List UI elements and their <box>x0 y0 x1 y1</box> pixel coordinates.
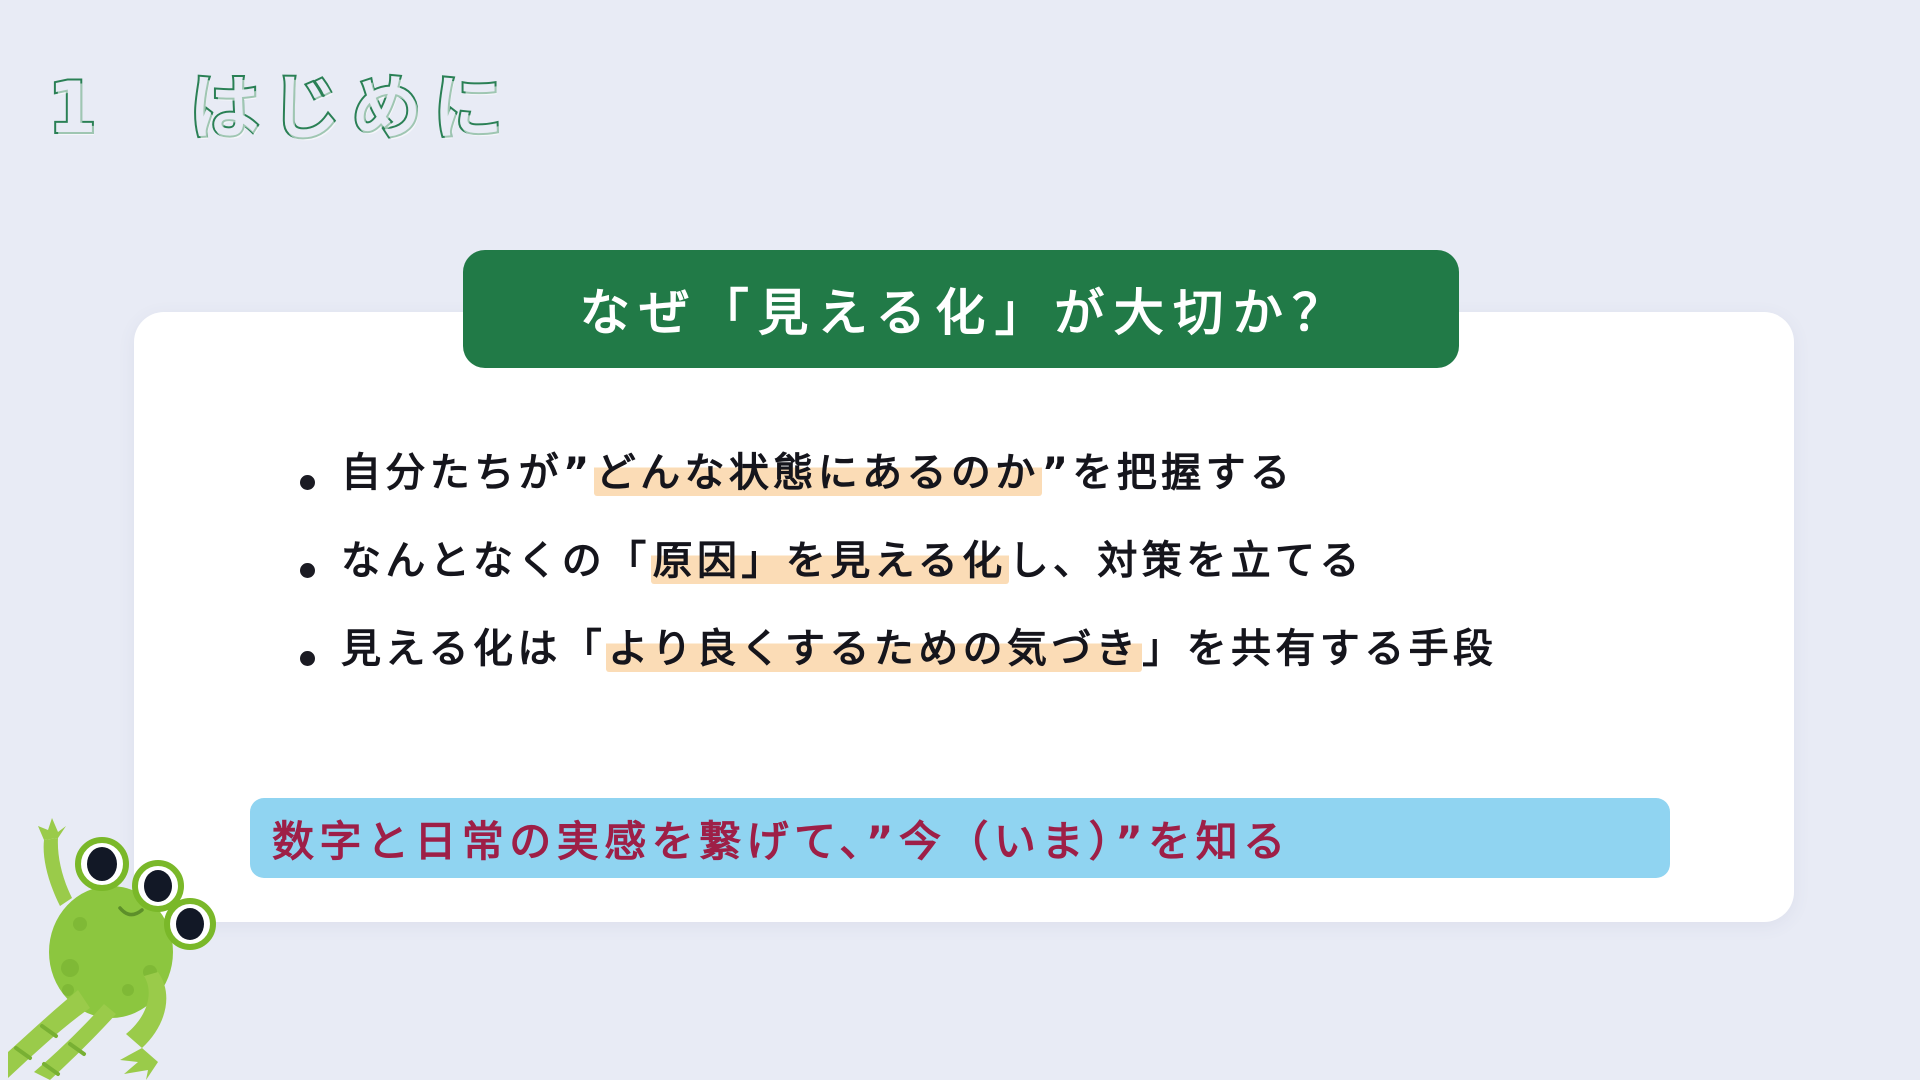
bullet-segment: 自分たちが” <box>341 450 594 496</box>
bullet-dot-icon <box>300 563 315 578</box>
frog-stripe <box>70 1044 84 1054</box>
frog-foot <box>120 1048 158 1080</box>
bullet-segment: なんとなくの「 <box>341 538 651 584</box>
frog-spot <box>61 959 79 977</box>
bullet-text: なんとなくの「原因」を見える化し、対策を立てる <box>341 538 1364 584</box>
bullet-text: 自分たちが”どんな状態にあるのか”を把握する <box>341 450 1294 496</box>
frog-spot <box>62 984 74 996</box>
frog-stripe <box>16 1048 30 1058</box>
frog-leg <box>34 1004 116 1080</box>
bullet-segment: 見える化は「 <box>341 626 606 672</box>
frog-stripe <box>44 1064 58 1074</box>
list-item: 自分たちが”どんな状態にあるのか”を把握する <box>300 450 1820 496</box>
frog-leg <box>126 972 166 1048</box>
frog-spot <box>73 917 87 931</box>
list-item: 見える化は「より良くするための気づき」を共有する手段 <box>300 626 1820 672</box>
bullet-list: 自分たちが”どんな状態にあるのか”を把握する なんとなくの「原因」を見える化し、… <box>300 450 1820 714</box>
bullet-highlight: 原因」を見える化 <box>651 538 1009 584</box>
frog-hand <box>38 818 66 840</box>
section-heading-banner: なぜ「見える化」が大切か？ <box>463 250 1459 368</box>
frog-arm <box>44 838 72 906</box>
list-item: なんとなくの「原因」を見える化し、対策を立てる <box>300 538 1820 584</box>
bullet-text: 見える化は「より良くするための気づき」を共有する手段 <box>341 626 1497 672</box>
frog-eye-stalk <box>96 888 106 922</box>
bullet-segment: 」を共有する手段 <box>1142 626 1497 672</box>
page-title: 1 はじめに <box>48 52 514 153</box>
bullet-segment: し、対策を立てる <box>1009 538 1364 584</box>
summary-text: 数字と日常の実感を繋げて、”今（いま）”を知る <box>250 808 1291 869</box>
frog-spot <box>122 984 134 996</box>
summary-callout: 数字と日常の実感を繋げて、”今（いま）”を知る <box>250 798 1670 878</box>
bullet-highlight: どんな状態にあるのか <box>594 450 1042 496</box>
frog-leg <box>8 990 90 1078</box>
frog-pupil <box>87 847 117 881</box>
bullet-highlight: より良くするための気づき <box>606 626 1142 672</box>
bullet-dot-icon <box>300 651 315 666</box>
frog-spot <box>143 965 157 979</box>
frog-eye-icon <box>78 840 126 888</box>
frog-stripe <box>42 1026 56 1036</box>
bullet-dot-icon <box>300 475 315 490</box>
section-heading-text: なぜ「見える化」が大切か？ <box>570 273 1352 345</box>
bullet-segment: ”を把握する <box>1042 450 1295 496</box>
